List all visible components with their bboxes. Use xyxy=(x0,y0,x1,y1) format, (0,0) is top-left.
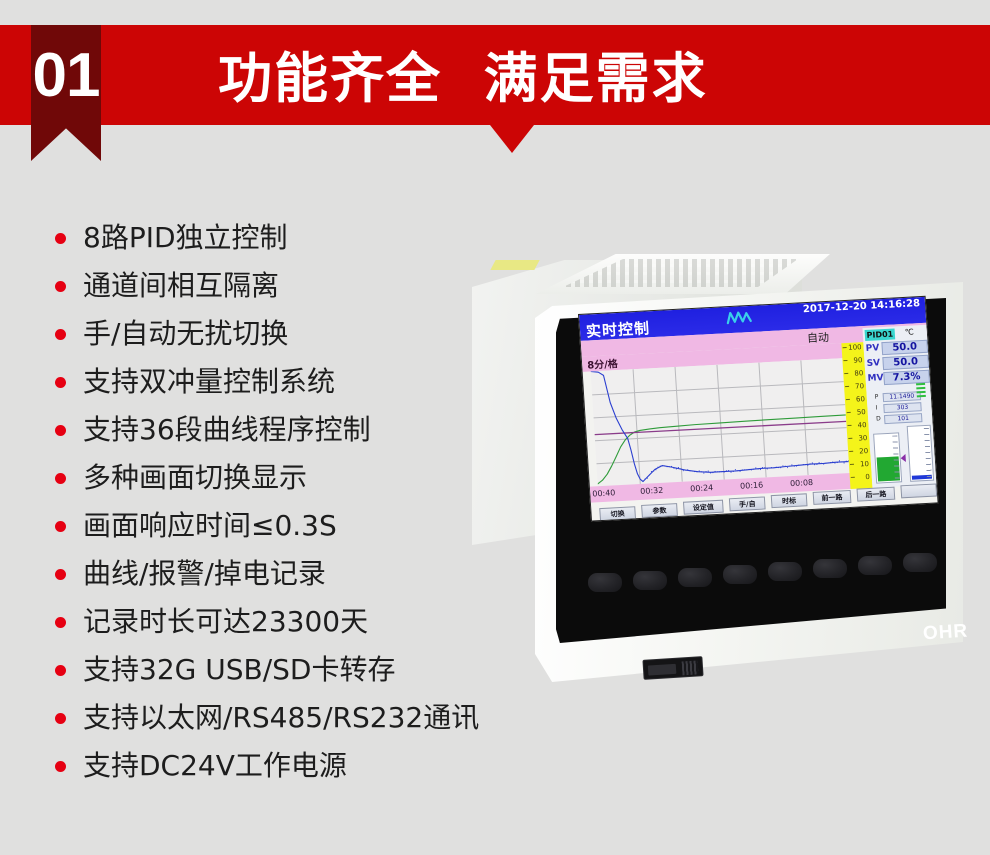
header-banner-notch xyxy=(490,125,534,153)
bullet-dot-icon xyxy=(55,473,66,484)
bullet-dot-icon xyxy=(55,713,66,724)
pv-gauge-marker xyxy=(900,454,905,462)
section-number-ribbon: 01 xyxy=(31,25,101,161)
bullet-dot-icon xyxy=(55,329,66,340)
list-item: 多种画面切换显示 xyxy=(55,454,525,502)
feature-label: 记录时长可达23300天 xyxy=(83,608,368,636)
keypad-button-4[interactable] xyxy=(723,565,757,584)
list-item: 支持36段曲线程序控制 xyxy=(55,406,525,454)
softkey-setpoint[interactable]: 设定值 xyxy=(683,500,724,515)
feature-label: 支持36段曲线程序控制 xyxy=(83,416,371,444)
lcd-scale-label: 8分/格 xyxy=(587,355,619,372)
list-item: 手/自动无扰切换 xyxy=(55,310,525,358)
feature-label: 手/自动无扰切换 xyxy=(83,320,288,348)
list-item: 支持以太网/RS485/RS232通讯 xyxy=(55,694,525,742)
pid-readout-key: SV xyxy=(866,358,880,369)
list-item: 支持32G USB/SD卡转存 xyxy=(55,646,525,694)
softkey-manauto[interactable]: 手/自 xyxy=(729,496,766,511)
pid-channel-badge: PID01 xyxy=(865,328,896,341)
softkey-prev-ch[interactable]: 前一路 xyxy=(813,490,852,505)
page-root: 01 功能齐全 满足需求 8路PID独立控制 通道间相互隔离 手/自动无扰切换 … xyxy=(0,0,990,855)
feature-label: 8路PID独立控制 xyxy=(83,224,288,252)
softkey-timemark[interactable]: 时标 xyxy=(771,493,808,508)
feature-list: 8路PID独立控制 通道间相互隔离 手/自动无扰切换 支持双冲量控制系统 支持3… xyxy=(55,214,525,790)
list-item: 画面响应时间≤0.3S xyxy=(55,502,525,550)
feature-label: 支持双冲量控制系统 xyxy=(83,368,335,396)
time-tick: 00:08 xyxy=(790,478,814,488)
feature-label: 通道间相互隔离 xyxy=(83,272,279,300)
pid-readout-key: PV xyxy=(865,343,879,354)
scale-tick-label: 80 xyxy=(854,369,863,377)
feature-label: 支持32G USB/SD卡转存 xyxy=(83,656,395,684)
bullet-dot-icon xyxy=(55,377,66,388)
pid-readout-value: 50.0 xyxy=(882,355,929,370)
usb-port-icon xyxy=(682,660,699,675)
pid-panel: PID01 ℃ PV 50.0 SV 50.0 MV 7.3% xyxy=(862,325,938,488)
time-tick: 00:32 xyxy=(640,486,664,496)
pid-tuning-key: I xyxy=(875,404,877,411)
scale-tick-label: 90 xyxy=(853,356,862,364)
bullet-dot-icon xyxy=(55,233,66,244)
keypad-button-3[interactable] xyxy=(678,568,712,587)
bullet-dot-icon xyxy=(55,665,66,676)
time-tick: 00:16 xyxy=(740,481,764,491)
keypad-button-7[interactable] xyxy=(858,556,892,575)
media-slot[interactable] xyxy=(642,656,703,680)
trend-plot xyxy=(591,358,850,486)
feature-label: 支持以太网/RS485/RS232通讯 xyxy=(83,704,479,732)
list-item: 支持双冲量控制系统 xyxy=(55,358,525,406)
feature-label: 支持DC24V工作电源 xyxy=(83,752,347,780)
bullet-dot-icon xyxy=(55,617,66,628)
lcd-screen[interactable]: 实时控制 2017-12-20 14:16:28 自动 8分/格 xyxy=(578,296,939,522)
softkey-params[interactable]: 参数 xyxy=(641,503,678,518)
pid-tuning-value: 303 xyxy=(883,402,922,413)
trend-curves xyxy=(591,358,850,486)
scale-tick-label: 50 xyxy=(857,408,866,416)
yellow-sticker xyxy=(490,260,539,270)
bullet-dot-icon xyxy=(55,569,66,580)
keypad xyxy=(588,552,918,592)
keypad-button-8[interactable] xyxy=(903,553,937,572)
list-item: 通道间相互隔离 xyxy=(55,262,525,310)
page-title: 功能齐全 满足需求 xyxy=(218,34,708,113)
scale-tick-label: 100 xyxy=(848,343,862,352)
mv-gauge xyxy=(907,425,934,482)
softkey-next-ch[interactable]: 后一路 xyxy=(857,487,896,502)
bullet-dot-icon xyxy=(55,761,66,772)
keypad-button-5[interactable] xyxy=(768,562,802,581)
pv-gauge xyxy=(873,432,902,483)
status-indicator-bars xyxy=(916,383,926,399)
pid-readout-value: 50.0 xyxy=(881,340,928,355)
device-photo: 实时控制 2017-12-20 14:16:28 自动 8分/格 xyxy=(470,252,980,692)
scale-tick-label: 10 xyxy=(860,460,869,468)
feature-label: 曲线/报警/掉电记录 xyxy=(83,560,326,588)
list-item: 记录时长可达23300天 xyxy=(55,598,525,646)
time-tick: 00:40 xyxy=(592,488,616,498)
pid-tuning-key: D xyxy=(876,415,881,422)
keypad-button-6[interactable] xyxy=(813,559,847,578)
pid-tuning-d: D 101 xyxy=(876,413,925,425)
time-tick: 00:24 xyxy=(690,483,714,493)
list-item: 支持DC24V工作电源 xyxy=(55,742,525,790)
section-number: 01 xyxy=(33,45,100,107)
mv-gauge-ticks xyxy=(924,428,932,478)
keypad-button-2[interactable] xyxy=(633,571,667,590)
scale-tick-label: 20 xyxy=(859,447,868,455)
bullet-dot-icon xyxy=(55,425,66,436)
scale-tick-label: 0 xyxy=(865,473,870,481)
pid-readout-key: MV xyxy=(867,373,884,384)
bullet-dot-icon xyxy=(55,521,66,532)
scale-tick-label: 40 xyxy=(857,421,866,429)
wave-logo-icon xyxy=(725,309,754,326)
bullet-dot-icon xyxy=(55,281,66,292)
pid-tuning-value: 101 xyxy=(884,413,923,424)
feature-label: 画面响应时间≤0.3S xyxy=(83,512,337,540)
list-item: 曲线/报警/掉电记录 xyxy=(55,550,525,598)
list-item: 8路PID独立控制 xyxy=(55,214,525,262)
softkey-switch[interactable]: 切换 xyxy=(599,506,636,521)
pid-tuning-key: P xyxy=(875,393,879,400)
feature-label: 多种画面切换显示 xyxy=(83,464,307,492)
scale-tick-label: 70 xyxy=(855,382,864,390)
scale-tick-label: 30 xyxy=(858,434,867,442)
sd-card-icon xyxy=(648,664,677,676)
scale-tick-label: 60 xyxy=(856,395,865,403)
pid-unit-label: ℃ xyxy=(905,327,915,336)
brand-logo: OHR xyxy=(922,621,969,646)
pid-tuning-value: 11.1490 xyxy=(883,391,922,402)
softkey-blank[interactable] xyxy=(900,483,937,498)
keypad-button-1[interactable] xyxy=(588,573,622,592)
